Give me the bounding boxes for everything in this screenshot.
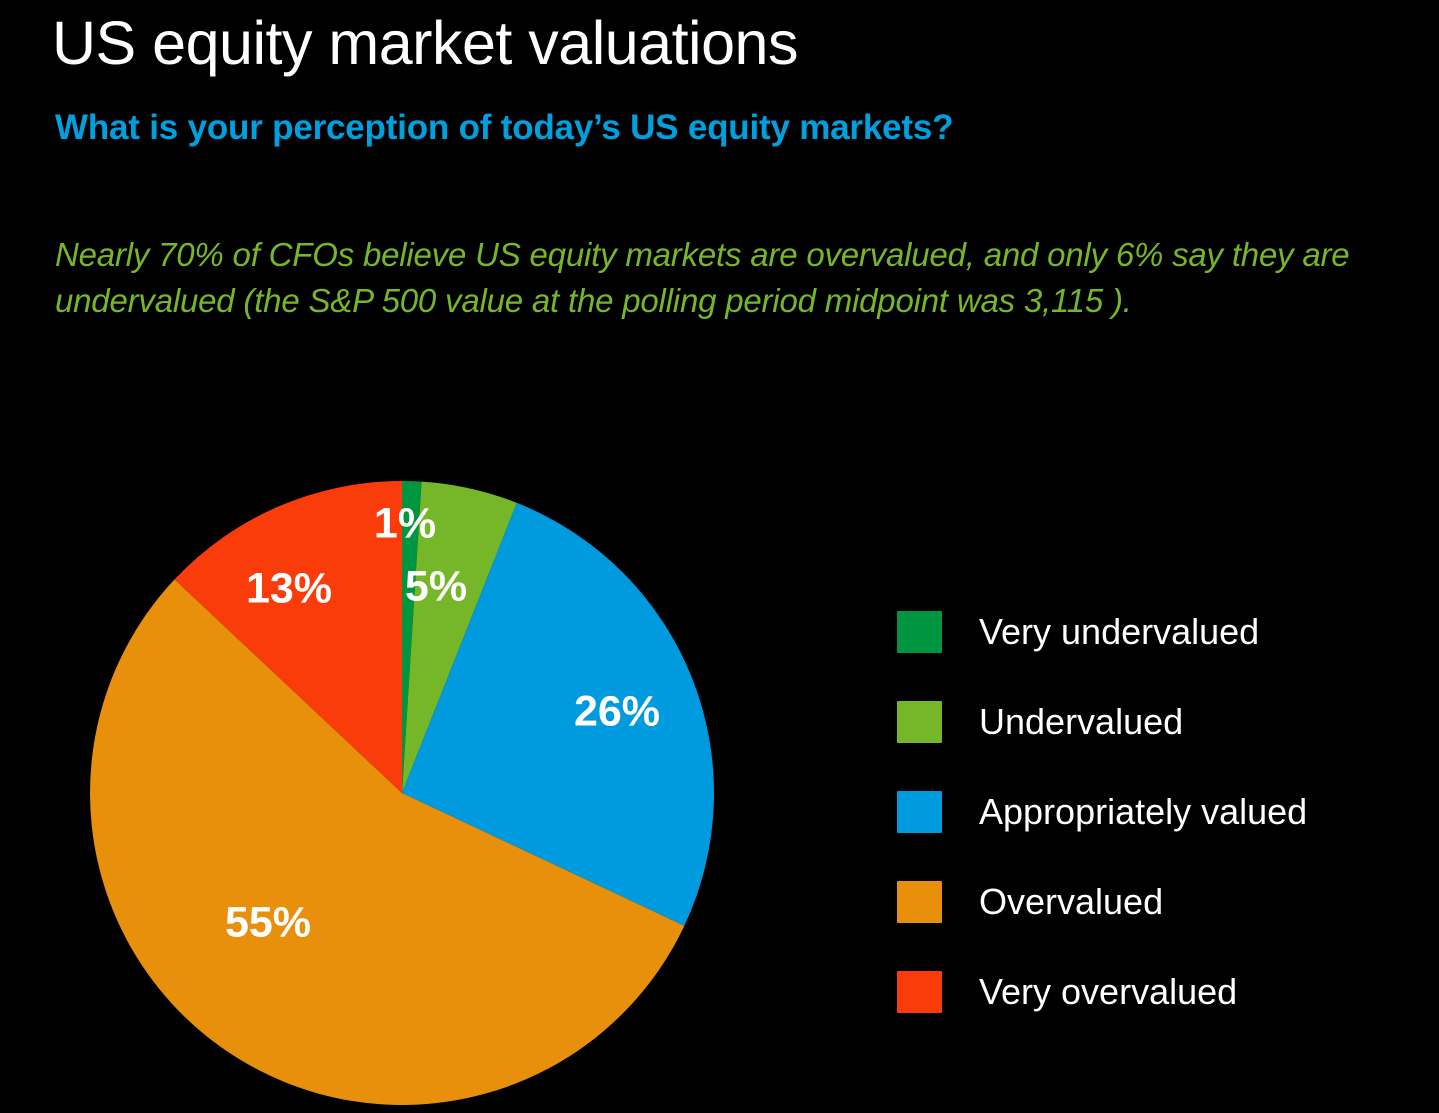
legend-item-very-undervalued[interactable]: Very undervalued — [897, 610, 1397, 654]
legend-label-overvalued: Overvalued — [979, 881, 1163, 923]
page-subtitle: What is your perception of today’s US eq… — [55, 105, 953, 151]
pie-slice-label: 5% — [405, 562, 467, 610]
legend-swatch-appropriately-valued — [897, 791, 942, 833]
pie-slice-label: 26% — [574, 687, 660, 735]
legend-swatch-overvalued — [897, 881, 942, 923]
chart-legend: Very undervalued Undervalued Appropriate… — [897, 610, 1397, 1060]
pie-chart: 1%5%26%55%13% Very undervalued Undervalu… — [0, 430, 1439, 1113]
legend-item-very-overvalued[interactable]: Very overvalued — [897, 970, 1397, 1014]
legend-label-very-overvalued: Very overvalued — [979, 971, 1237, 1013]
pie-slice-label: 55% — [225, 898, 311, 946]
pie-slice-label: 13% — [246, 564, 332, 612]
legend-label-very-undervalued: Very undervalued — [979, 611, 1259, 653]
pie-chart-svg: 1%5%26%55%13% — [60, 450, 760, 1110]
pie-slice-label: 1% — [374, 499, 436, 547]
slide-root: US equity market valuations What is your… — [0, 0, 1439, 1113]
legend-item-overvalued[interactable]: Overvalued — [897, 880, 1397, 924]
legend-label-appropriately-valued: Appropriately valued — [979, 791, 1307, 833]
legend-label-undervalued: Undervalued — [979, 701, 1183, 743]
page-body-text: Nearly 70% of CFOs believe US equity mar… — [55, 232, 1425, 324]
legend-item-appropriately-valued[interactable]: Appropriately valued — [897, 790, 1397, 834]
legend-swatch-very-overvalued — [897, 971, 942, 1013]
legend-swatch-very-undervalued — [897, 611, 942, 653]
pie-slice-group — [90, 481, 714, 1105]
legend-item-undervalued[interactable]: Undervalued — [897, 700, 1397, 744]
page-title: US equity market valuations — [52, 6, 798, 80]
legend-swatch-undervalued — [897, 701, 942, 743]
